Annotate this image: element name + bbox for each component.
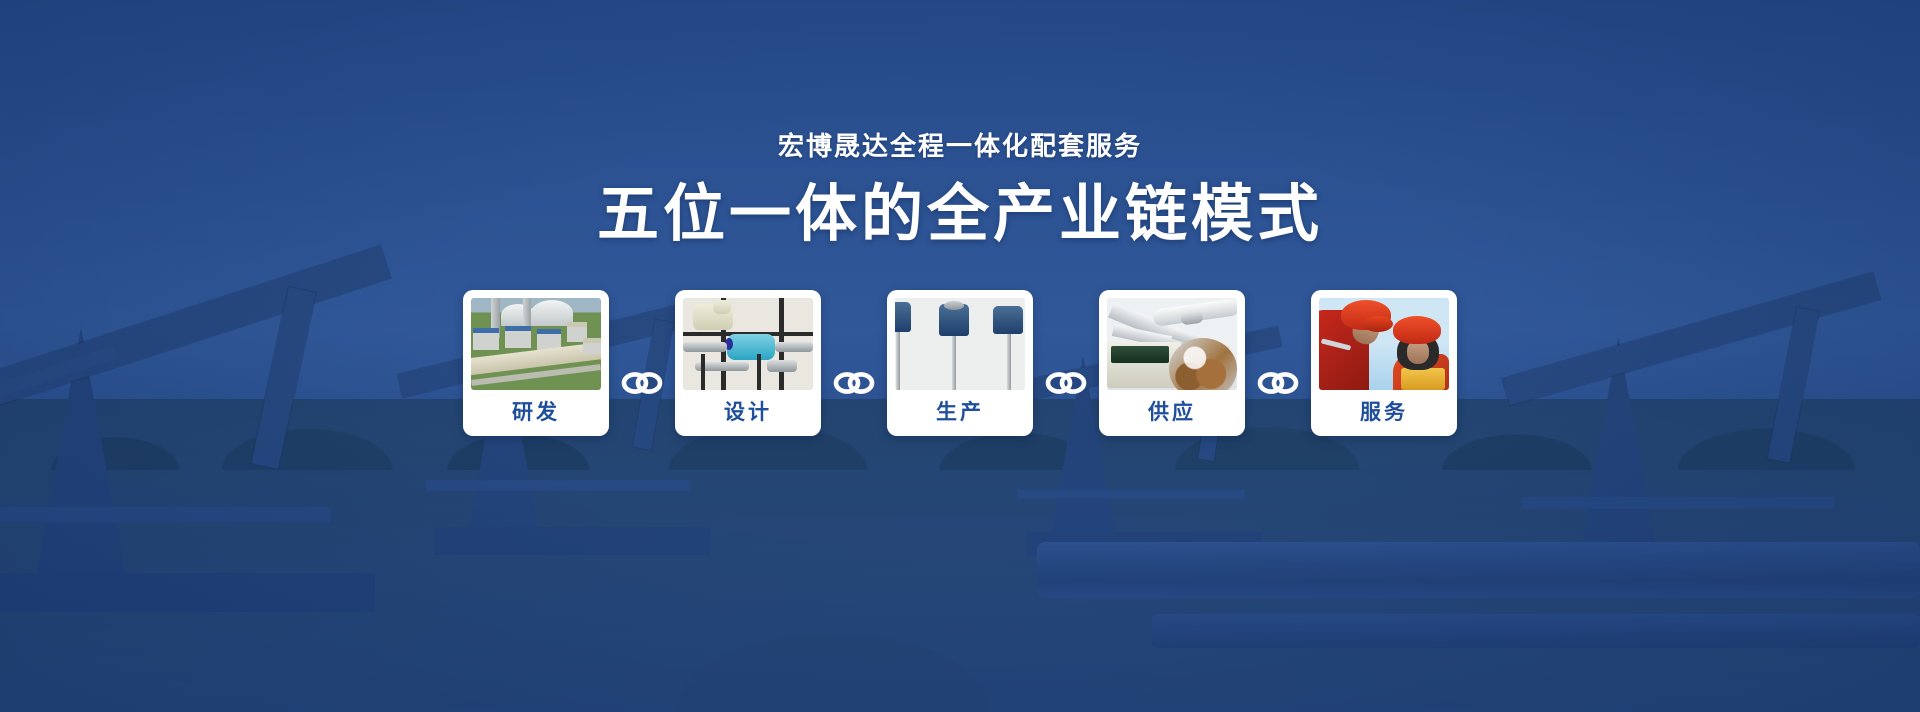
promo-banner: 宏博晟达全程一体化配套服务 五位一体的全产业链模式 bbox=[0, 0, 1920, 712]
chain-step-card[interactable]: 设计 bbox=[675, 290, 821, 436]
banner-subtitle: 宏博晟达全程一体化配套服务 bbox=[778, 133, 1142, 159]
chain-step-thumbnail bbox=[471, 298, 601, 390]
chain-step-card[interactable]: 供应 bbox=[1099, 290, 1245, 436]
chain-link-icon bbox=[1245, 290, 1311, 476]
banner-headline: 五位一体的全产业链模式 bbox=[597, 184, 1323, 246]
chain-step-label: 生产 bbox=[895, 390, 1025, 436]
chain-link-icon bbox=[609, 290, 675, 476]
chain-link-icon bbox=[821, 290, 887, 476]
chain-step-card[interactable]: 生产 bbox=[887, 290, 1033, 436]
value-chain-row: 研发 bbox=[463, 290, 1457, 476]
chain-step-card[interactable]: 研发 bbox=[463, 290, 609, 436]
chain-step-thumbnail bbox=[895, 298, 1025, 390]
chain-step-thumbnail bbox=[1107, 298, 1237, 390]
chain-step-thumbnail bbox=[683, 298, 813, 390]
chain-step-label: 设计 bbox=[683, 390, 813, 436]
chain-step-card[interactable]: 服务 bbox=[1311, 290, 1457, 436]
chain-step-label: 研发 bbox=[471, 390, 601, 436]
chain-link-icon bbox=[1033, 290, 1099, 476]
chain-step-label: 服务 bbox=[1319, 390, 1449, 436]
banner-content: 宏博晟达全程一体化配套服务 五位一体的全产业链模式 bbox=[0, 0, 1920, 712]
chain-step-thumbnail bbox=[1319, 298, 1449, 390]
chain-step-label: 供应 bbox=[1107, 390, 1237, 436]
